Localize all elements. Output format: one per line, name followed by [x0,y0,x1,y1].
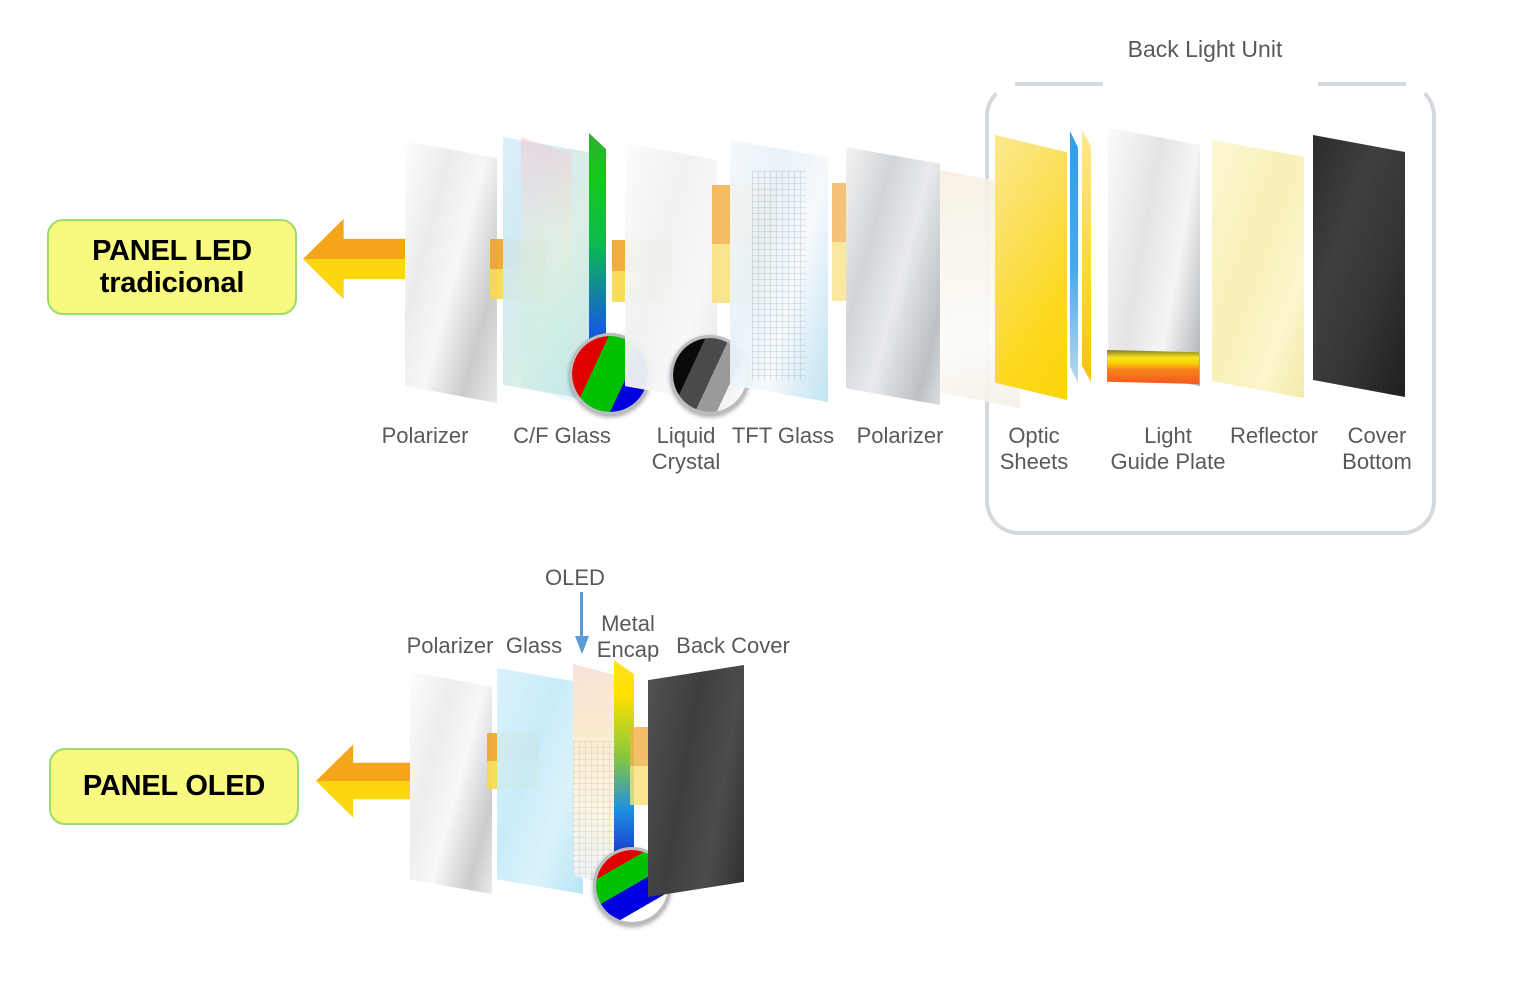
led-layer-reflector [1212,140,1304,398]
led-layer-cover-bottom [1313,135,1405,397]
callout-panel-led-line1: PANEL LED [92,235,252,267]
back-light-unit-title: Back Light Unit [1080,36,1330,62]
callout-panel-oled-line1: PANEL OLED [83,770,265,802]
led-layer-optic-sheets [995,135,1067,400]
led-label-polarizer-rear: Polarizer [840,423,960,449]
led-optic-yellow-strip [1082,130,1091,382]
led-label-polarizer-front: Polarizer [365,423,485,449]
led-label-cover-bottom: Cover Bottom [1325,423,1429,475]
led-layer-tft-glass [730,140,828,402]
led-layer-polarizer-front [405,141,497,403]
oled-layer-back-cover [648,665,744,897]
oled-label-polarizer: Polarizer [392,633,508,659]
oled-layer-glass [497,668,583,894]
callout-panel-led: PANEL LED tradicional [47,219,297,315]
led-label-tft-glass: TFT Glass [722,423,844,449]
led-label-reflector: Reflector [1214,423,1334,449]
oled-pointer-arrow-icon [574,592,590,654]
callout-panel-oled: PANEL OLED [49,748,299,825]
led-label-optic-sheets: Optic Sheets [980,423,1088,475]
led-light-bar-strip [1107,350,1199,384]
led-layer-light-guide-plate [1108,128,1200,386]
oled-label-glass: Glass [496,633,572,659]
oled-pointer-label: OLED [520,565,630,591]
led-label-cf-glass: C/F Glass [498,423,626,449]
oled-label-metal-encap: Metal Encap [590,611,666,663]
led-optic-blue-strip [1070,131,1078,383]
led-layer-polarizer-rear [846,147,940,405]
oled-layer-polarizer [410,672,492,894]
oled-label-back-cover: Back Cover [668,633,798,659]
diagram-canvas: Back Light Unit [0,0,1536,993]
callout-panel-led-line2: tradicional [100,267,244,299]
